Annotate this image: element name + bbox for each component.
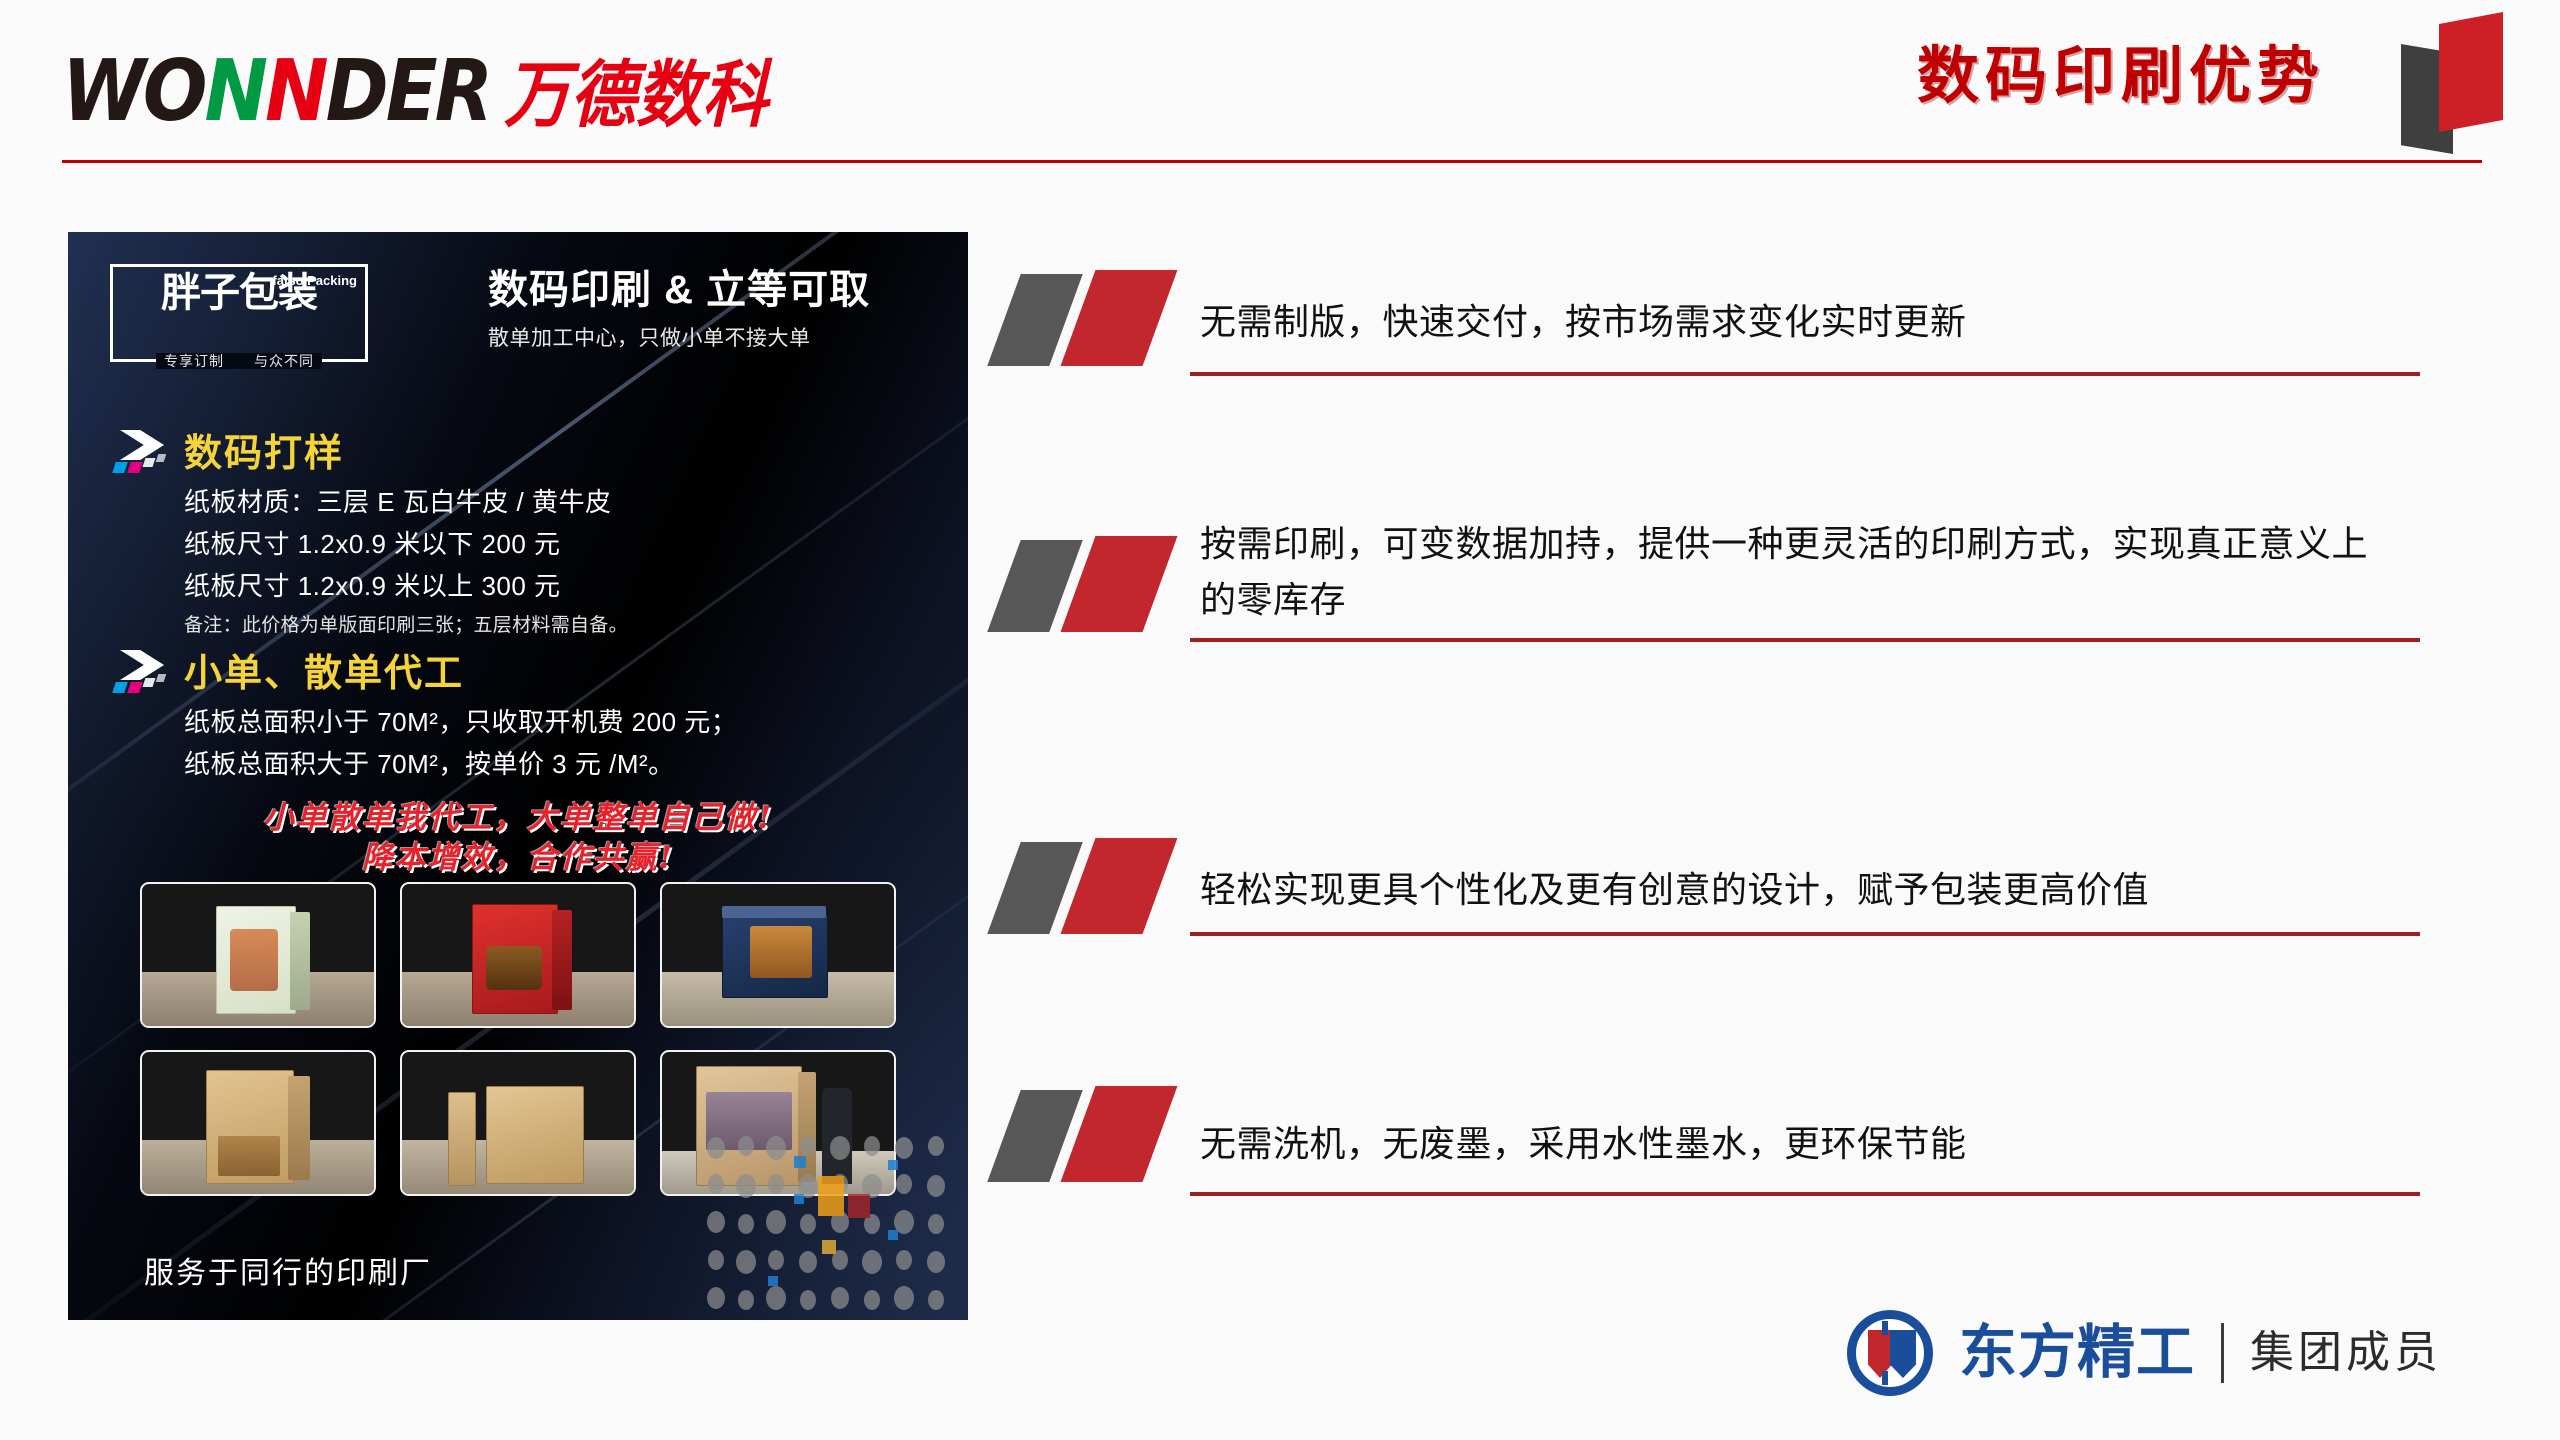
bullet-marker-icon xyxy=(1000,1084,1190,1184)
advantage-rule-3 xyxy=(1190,932,2420,936)
photo-box-art xyxy=(230,929,278,991)
wonder-wordmark: WONNDER xyxy=(62,52,490,130)
dongfang-emblem-icon xyxy=(1847,1310,1933,1396)
page-header: WONNDER 万德数科 数码印刷优势 xyxy=(0,0,2560,170)
advantage-item-2: 按需印刷，可变数据加持，提供一种更灵活的印刷方式，实现真正意义上的零库存 xyxy=(1000,516,2420,836)
product-photo-honey-gift-box xyxy=(140,882,376,1028)
chevron-dot-magenta xyxy=(127,682,143,693)
fatso-packing-logo: 胖子包装 fatso Packing 专享订制 与众不同 xyxy=(110,264,368,362)
poster-subheadline: 散单加工中心，只做小单不接大单 xyxy=(488,322,928,352)
halftone-dot-pattern xyxy=(698,1130,968,1320)
chevron-dot-cyan xyxy=(112,682,128,693)
corner-mark-icon xyxy=(2395,8,2505,156)
advantage-rule-2 xyxy=(1190,638,2420,642)
advantage-item-3: 轻松实现更具个性化及更有创意的设计，赋予包装更高价值 xyxy=(1000,836,2420,1076)
header-divider-rule xyxy=(62,160,2482,163)
poster-slogan-line-1: 小单散单我代工，大单整单自己做! xyxy=(68,798,968,840)
poster-bottom-caption: 服务于同行的印刷厂 xyxy=(144,1248,432,1292)
corner-mark-red-shape xyxy=(2439,12,2503,132)
photo-box-front xyxy=(486,1086,584,1184)
advantage-text-2: 按需印刷，可变数据加持，提供一种更灵活的印刷方式，实现真正意义上的零库存 xyxy=(1200,516,2380,642)
poster-section-title-2: 小单、散单代工 xyxy=(184,642,464,697)
poster-section1-note: 备注：此价格为单版面印刷三张；五层材料需自备。 xyxy=(184,610,628,637)
wonder-logo: WONNDER 万德数科 xyxy=(62,50,768,130)
footer-member-label: 集团成员 xyxy=(2250,1331,2442,1375)
fatso-logo-tagline-wrap: 专享订制 与众不同 xyxy=(113,351,365,371)
page-title: 数码印刷优势 xyxy=(1917,46,2325,108)
product-photo-blue-beef-carton xyxy=(660,882,896,1028)
photo-row xyxy=(140,882,900,1028)
product-photo-kraft-handle-box xyxy=(140,1050,376,1196)
product-photo-kraft-gift-set xyxy=(400,1050,636,1196)
chevron-dot-white xyxy=(156,454,167,462)
advantages-list: 无需制版，快速交付，按市场需求变化实时更新 按需印刷，可变数据加持，提供一种更灵… xyxy=(1000,268,2420,1276)
footer-group-logo: 东方精工 集团成员 xyxy=(1847,1310,2442,1396)
fatso-logo-tagline: 专享订制 与众不同 xyxy=(156,353,322,369)
poster-section1-line-3: 纸板尺寸 1.2x0.9 米以上 300 元 xyxy=(184,566,561,603)
chevron-dot-cyan xyxy=(112,462,128,473)
chevron-arrow-icon xyxy=(112,428,174,478)
advantage-text-3: 轻松实现更具个性化及更有创意的设计，赋予包装更高价值 xyxy=(1200,836,2420,932)
footer-company-name: 东方精工 xyxy=(1959,1324,2195,1382)
poster-section1-line-2: 纸板尺寸 1.2x0.9 米以下 200 元 xyxy=(184,524,561,561)
wonder-wordmark-n-red: N xyxy=(265,41,326,141)
poster-slogan-line-2: 降本增效，合作共赢! xyxy=(68,838,968,880)
wonder-wordmark-post: DER xyxy=(326,41,491,141)
advantage-text-4: 无需洗机，无废墨，采用水性墨水，更环保节能 xyxy=(1200,1076,2420,1186)
advantage-text-1: 无需制版，快速交付，按市场需求变化实时更新 xyxy=(1200,268,2420,364)
brand-chinese-name: 万德数科 xyxy=(504,61,768,130)
wonder-wordmark-pre: WO xyxy=(62,41,204,141)
chevron-arrow-icon xyxy=(112,648,174,698)
advantage-item-4: 无需洗机，无废墨，采用水性墨水，更环保节能 xyxy=(1000,1076,2420,1276)
photo-box-side xyxy=(288,1076,310,1180)
emblem-shield-blue xyxy=(1890,1330,1916,1378)
product-photo-red-roast-chicken-box xyxy=(400,882,636,1028)
poster-section2-line-2: 纸板总面积大于 70M²，按单价 3 元 /M²。 xyxy=(184,744,675,781)
emblem-bar-bottom xyxy=(1882,1371,1888,1385)
emblem-bar-top xyxy=(1882,1321,1888,1335)
advantage-item-1: 无需制版，快速交付，按市场需求变化实时更新 xyxy=(1000,268,2420,516)
bullet-marker-icon xyxy=(1000,534,1190,634)
bullet-marker-icon xyxy=(1000,836,1190,936)
poster-section-title-1: 数码打样 xyxy=(184,422,344,477)
chevron-dot-white xyxy=(143,678,156,687)
poster-section2-line-1: 纸板总面积小于 70M²，只收取开机费 200 元； xyxy=(184,702,737,739)
emblem-shield-red xyxy=(1868,1330,1892,1378)
photo-box-art xyxy=(486,946,542,990)
fatso-logo-english: fatso Packing xyxy=(272,273,357,288)
photo-box-side xyxy=(290,912,310,1010)
bullet-marker-icon xyxy=(1000,268,1190,368)
footer-divider xyxy=(2221,1323,2224,1383)
advantage-rule-4 xyxy=(1190,1192,2420,1196)
poster-section1-line-1: 纸板材质：三层 E 瓦白牛皮 / 黄牛皮 xyxy=(184,482,611,519)
wonder-wordmark-n-green: N xyxy=(204,41,265,141)
photo-box-art xyxy=(750,926,812,978)
chevron-dot-white xyxy=(143,458,156,467)
photo-box-tall xyxy=(448,1092,476,1186)
photo-box-top xyxy=(722,906,826,918)
chevron-dot-white xyxy=(156,674,167,682)
photo-box-art xyxy=(218,1136,280,1176)
photo-box-side xyxy=(552,910,572,1010)
chevron-dot-magenta xyxy=(127,462,143,473)
promo-poster-image: 胖子包装 fatso Packing 专享订制 与众不同 数码印刷 & 立等可取… xyxy=(68,232,968,1320)
poster-headline: 数码印刷 & 立等可取 xyxy=(488,268,908,312)
advantage-rule-1 xyxy=(1190,372,2420,376)
